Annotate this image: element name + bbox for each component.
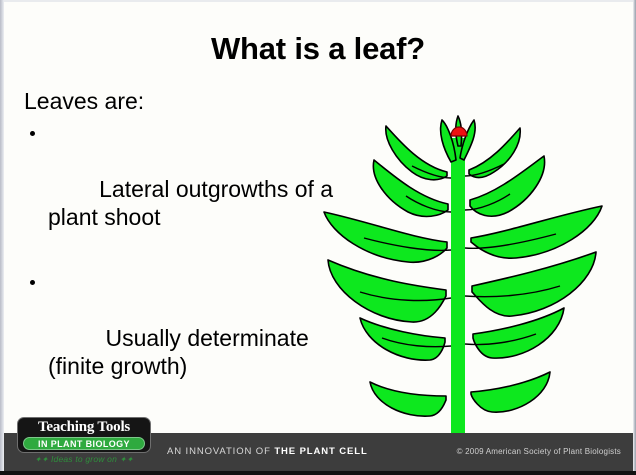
leaf-shape [328, 260, 446, 322]
logo-subtitle: IN PLANT BIOLOGY [24, 439, 144, 449]
leaf-shape [386, 126, 447, 180]
teaching-tools-logo: Teaching Tools IN PLANT BIOLOGY ✦✦ Ideas… [17, 417, 151, 469]
bullet-item: Lateral outgrowths of a plant shoot [24, 121, 336, 259]
lead-in-text: Leaves are: [24, 88, 336, 115]
leaf-shape [469, 128, 520, 178]
leaf-shape [360, 318, 445, 360]
footer-copyright: © 2009 American Society of Plant Biologi… [457, 447, 621, 456]
stem-shape [451, 138, 465, 436]
bullet-dot-icon [30, 280, 35, 285]
logo-motto: ✦✦ Ideas to grow on ✦✦ [17, 454, 151, 464]
leaf-shape [472, 252, 596, 316]
slide-left-edge [0, 0, 4, 475]
footer-tagline-bold: THE PLANT CELL [274, 446, 367, 457]
footer-tagline: AN INNOVATION OF THE PLANT CELL [167, 446, 368, 457]
bullet-item: Usually determinate (finite growth) [24, 270, 336, 408]
leaf-shape [370, 382, 446, 416]
bullet-dot-icon [30, 131, 35, 136]
leaf-shape [471, 372, 550, 412]
leaf-shape [324, 212, 447, 262]
apical-meristem-shape [451, 127, 467, 136]
plant-illustration [312, 100, 630, 436]
logo-title: Teaching Tools [17, 419, 151, 436]
leaf-sprig-left-icon: ✦✦ [35, 455, 49, 464]
bullet-text: Lateral outgrowths of a plant shoot [48, 176, 340, 230]
slide-title: What is a leaf? [0, 33, 636, 66]
leaf-sprig-right-icon: ✦✦ [120, 455, 134, 464]
slide-top-edge [0, 0, 636, 2]
slide-canvas: What is a leaf? Leaves are: Lateral outg… [0, 0, 636, 475]
logo-motto-text: Ideas to grow on [51, 454, 117, 464]
bullet-text: Usually determinate (finite growth) [48, 325, 315, 379]
footer-tagline-regular: AN INNOVATION OF [167, 446, 274, 457]
logo-pill: IN PLANT BIOLOGY [23, 437, 145, 450]
